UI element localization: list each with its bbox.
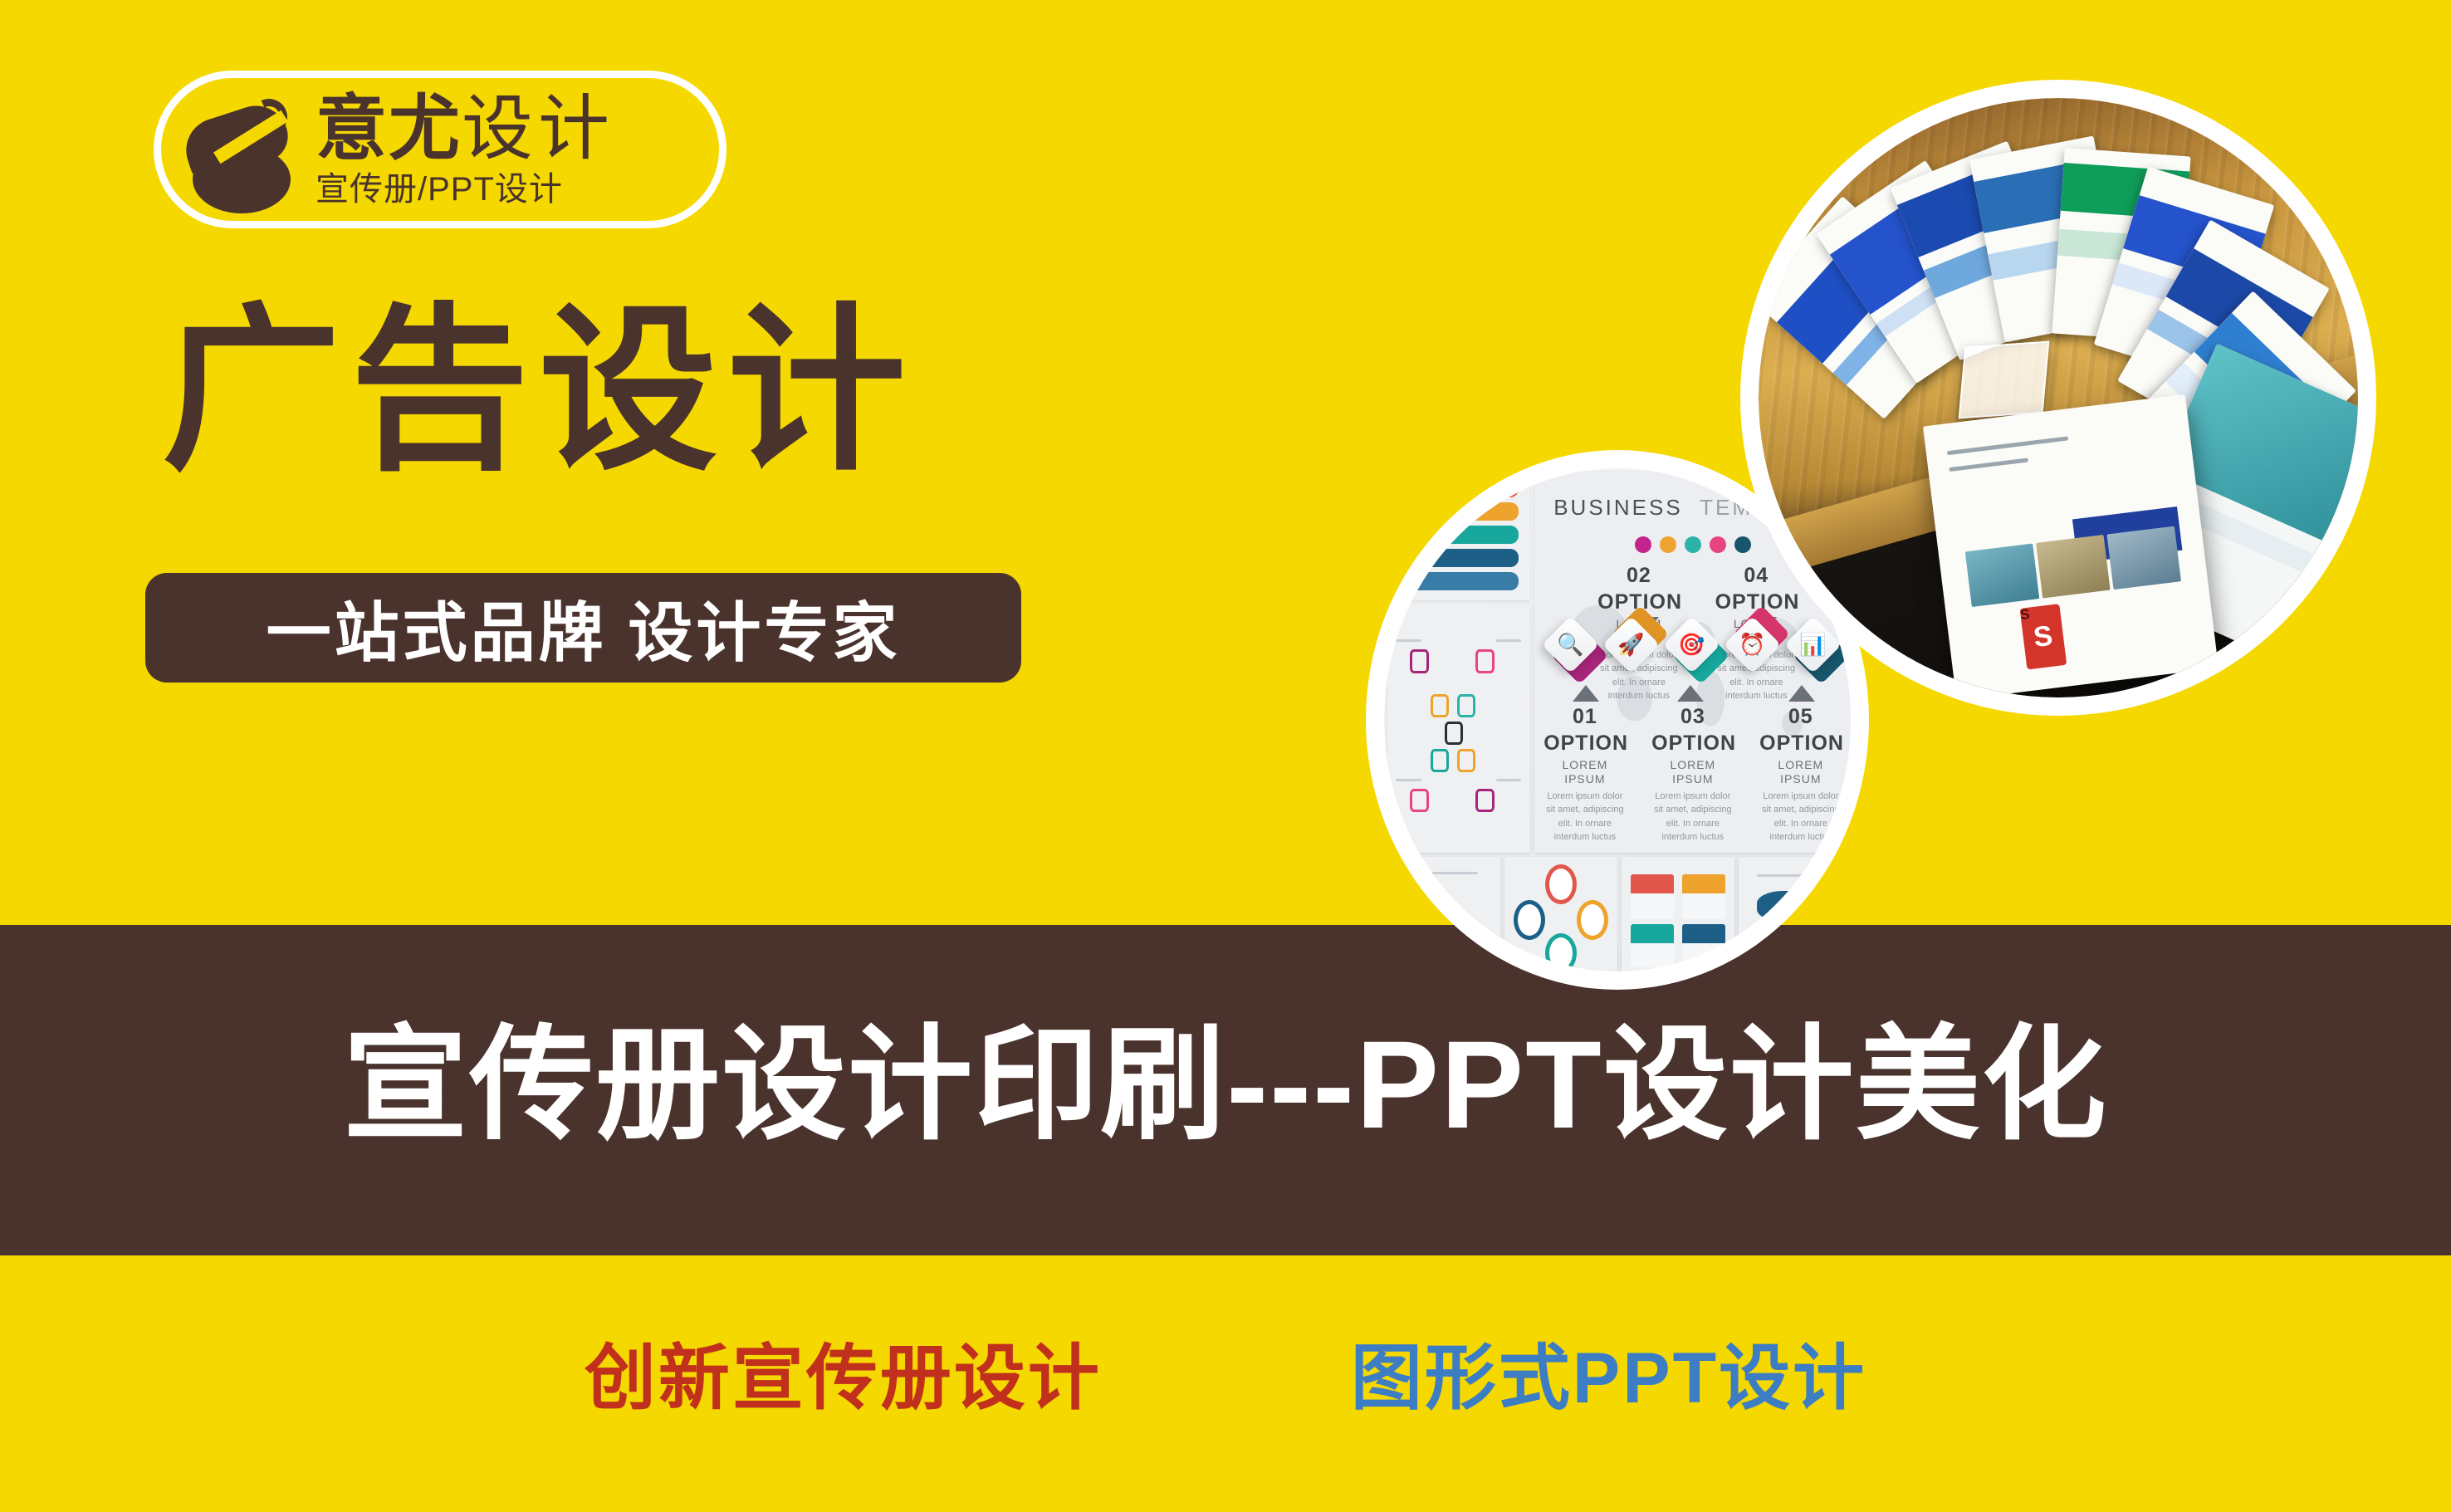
brand-subtitle: 宣传册/PPT设计 — [316, 173, 614, 206]
service-label-brochure: 创新宣传册设计 — [585, 1319, 1102, 1423]
ppt-thumb-rings — [1504, 857, 1617, 971]
target-icon: 🎯 — [1671, 624, 1712, 665]
ppt-thumb-steps — [1622, 857, 1734, 971]
ppt-diamond-03: 🎯 — [1671, 624, 1721, 674]
tagline-badge: 一站式品牌 设计专家 — [145, 573, 1021, 683]
ppt-option-01: 01 OPTION LOREM IPSUM Lorem ipsum dolor … — [1543, 704, 1626, 844]
magnifier-icon: 🔍 — [1550, 624, 1591, 665]
ppt-thumb-row — [1387, 857, 1851, 971]
ppt-thumb-banners — [1387, 472, 1530, 600]
tagline-text: 一站式品牌 设计专家 — [267, 581, 901, 674]
ppt-diamond-01: 🔍 — [1550, 624, 1600, 674]
brand-logo-text: 意尤设计 宣传册/PPT设计 — [316, 93, 614, 206]
ppt-thumb-cross — [1387, 604, 1530, 853]
feature-band-text: 宣传册设计印刷---PPT设计美化 — [0, 984, 2451, 1164]
brand-name-bold: 意尤 — [316, 89, 462, 169]
bottom-service-strip: 创新宣传册设计 图形式PPT设计 — [0, 1255, 2451, 1512]
brand-name: 意尤设计 — [316, 93, 614, 164]
brand-name-thin: 设计 — [462, 89, 614, 169]
brochure-cover-front: S — [1923, 394, 2219, 697]
ppt-thumb-pyramid — [1387, 857, 1500, 971]
page-title: 广告设计 — [162, 297, 916, 485]
brochure-brand-logo: S — [2019, 604, 2066, 669]
ppt-thumb-corner — [1739, 857, 1851, 971]
brand-logo-lockup: 意尤设计 宣传册/PPT设计 — [154, 71, 726, 228]
ppt-option-03: 03 OPTION LOREM IPSUM Lorem ipsum dolor … — [1651, 704, 1734, 844]
leaf-bird-mark-icon — [179, 87, 304, 212]
ppt-diamond-02: 🚀 — [1611, 624, 1661, 674]
business-card-holder — [1959, 341, 2050, 418]
brochure-print-photo: S — [1740, 80, 2376, 716]
service-label-ppt: 图形式PPT设计 — [1351, 1319, 1866, 1423]
poster-canvas: 意尤设计 宣传册/PPT设计 广告设计 一站式品牌 设计专家 — [0, 0, 2451, 1512]
ppt-option-05: 05 OPTION LOREM IPSUM Lorem ipsum dolor … — [1759, 704, 1842, 844]
rocket-icon: 🚀 — [1611, 624, 1651, 665]
